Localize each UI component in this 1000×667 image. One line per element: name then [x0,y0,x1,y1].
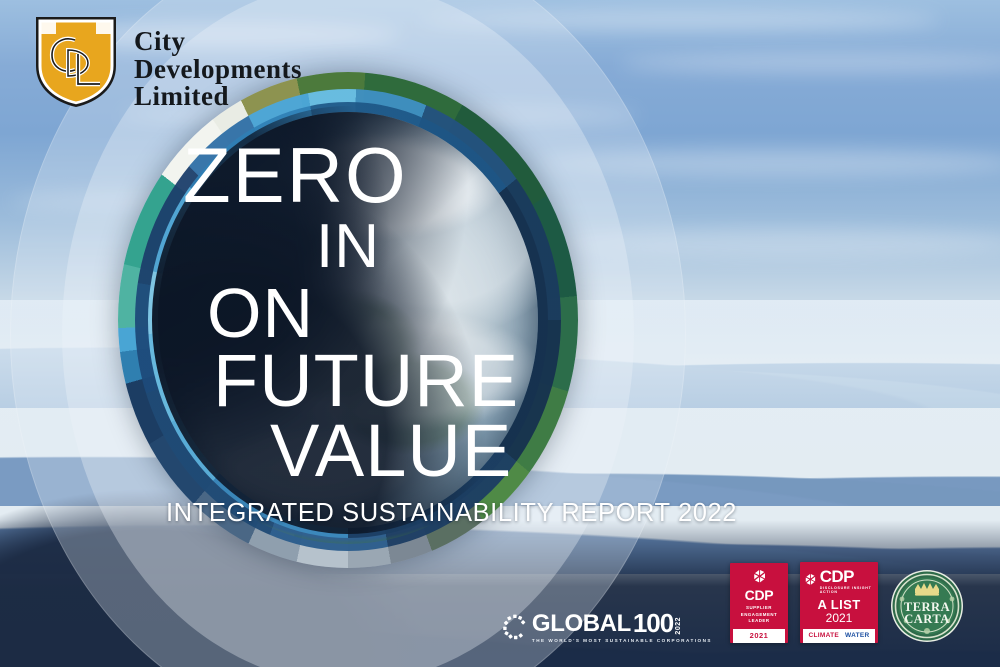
globe-ring-graphic [118,72,578,568]
cdp-supplier-engagement-badge[interactable]: CDP SUPPLIER ENGAGEMENT LEADER 2021 [730,563,788,643]
cdp-logo-icon [803,571,818,590]
cdp-category-water: WATER [845,632,870,639]
cdp-logo-icon [751,569,768,586]
global-100-tagline: THE WORLD'S MOST SUSTAINABLE CORPORATION… [532,638,712,643]
cdp-category-climate: CLIMATE [808,632,839,639]
brand-line-2: Developments [134,56,302,84]
terra-carta-badge[interactable]: TERRA CARTA [890,569,964,643]
report-cover: City Developments Limited ZERO IN ON FUT… [0,0,1000,667]
global-100-number: 100 [633,612,673,635]
cdp-supplier-line-1: SUPPLIER [741,605,777,612]
ring-foliage-right [142,96,554,544]
global-100-name: GLOBAL [532,613,631,635]
cdp-a-list-year: 2021 [826,612,853,625]
global-100-year: 2022 [675,617,682,635]
cdp-a-list-award: A LIST [817,598,860,611]
terra-carta-seal-icon: TERRA CARTA [890,569,964,643]
global-100-badge[interactable]: GLOBAL 100 2022 THE WORLD'S MOST SUSTAIN… [502,612,712,643]
cdp-brand-label: CDP [820,568,875,585]
cloud-streak [540,150,1000,176]
cdl-logo[interactable]: City Developments Limited [32,14,302,111]
cdp-a-list-badge[interactable]: CDP DISCLOSURE INSIGHT ACTION A LIST 202… [800,562,878,643]
cdp-supplier-year: 2021 [733,629,785,643]
svg-text:CARTA: CARTA [904,612,950,626]
cdl-wordmark: City Developments Limited [134,14,302,111]
brand-line-3: Limited [134,83,302,111]
cloud-streak [420,10,940,30]
cdp-tagline: DISCLOSURE INSIGHT ACTION [820,586,875,594]
brand-line-1: City [134,28,302,56]
award-badges: GLOBAL 100 2022 THE WORLD'S MOST SUSTAIN… [502,562,964,643]
cdp-brand-label: CDP [745,588,774,602]
report-subtitle: INTEGRATED SUSTAINABILITY REPORT 2022 [166,499,737,528]
cloud-streak [560,228,1000,258]
cdp-supplier-line-2: ENGAGEMENT [741,612,777,619]
global-100-swirl-icon [502,614,528,640]
cdp-supplier-line-3: LEADER [741,618,777,625]
cdl-shield-icon [32,14,120,110]
